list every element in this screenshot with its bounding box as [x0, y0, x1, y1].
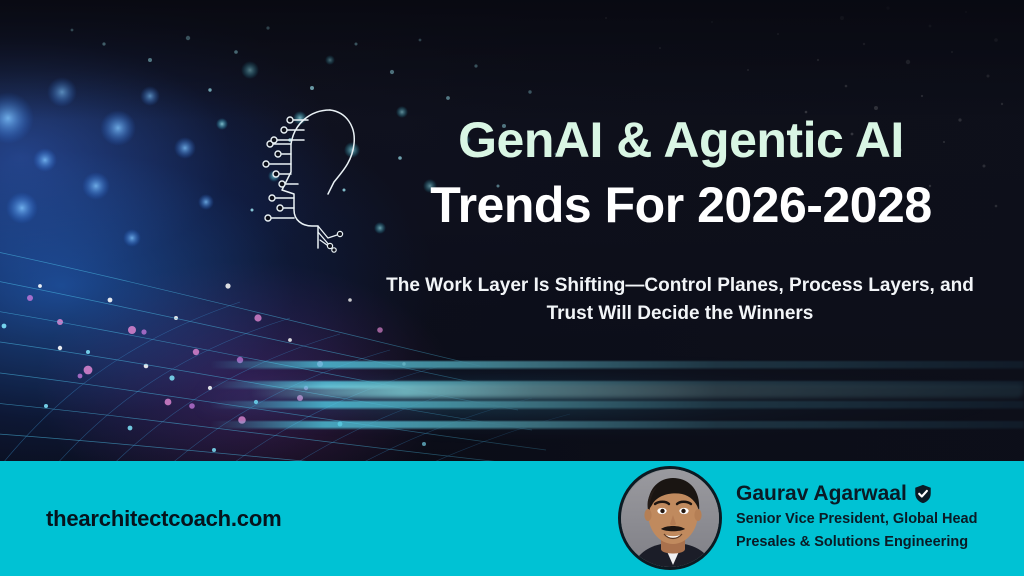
headline-line-2: Trends For 2026-2028: [356, 173, 1006, 238]
person-role-line-2: Presales & Solutions Engineering: [736, 533, 1016, 552]
ai-head-circuit-icon: [258, 98, 370, 256]
person-info-block: Gaurav Agarwaal Senior Vice President, G…: [736, 482, 1016, 552]
beam-glow-decoration: [200, 330, 1024, 461]
subtitle-text: The Work Layer Is Shifting—Control Plane…: [380, 272, 980, 327]
hero-top-fade: [0, 0, 1024, 120]
person-name-text: Gaurav Agarwaal: [736, 482, 907, 506]
headline-line-1: GenAI & Agentic AI: [356, 108, 1006, 173]
headline-block: GenAI & Agentic AI Trends For 2026-2028: [356, 108, 1006, 238]
person-role-line-1: Senior Vice President, Global Head: [736, 510, 1016, 529]
avatar: [618, 466, 722, 570]
person-name-row: Gaurav Agarwaal: [736, 482, 1016, 506]
light-beam-core-decoration: [250, 384, 1024, 398]
site-url-text[interactable]: thearchitectcoach.com: [46, 506, 281, 532]
verified-shield-check-icon: [914, 484, 932, 504]
light-beam-streaks-decoration: [210, 356, 1024, 440]
hero-section: GenAI & Agentic AI Trends For 2026-2028 …: [0, 0, 1024, 461]
social-banner: GenAI & Agentic AI Trends For 2026-2028 …: [0, 0, 1024, 576]
